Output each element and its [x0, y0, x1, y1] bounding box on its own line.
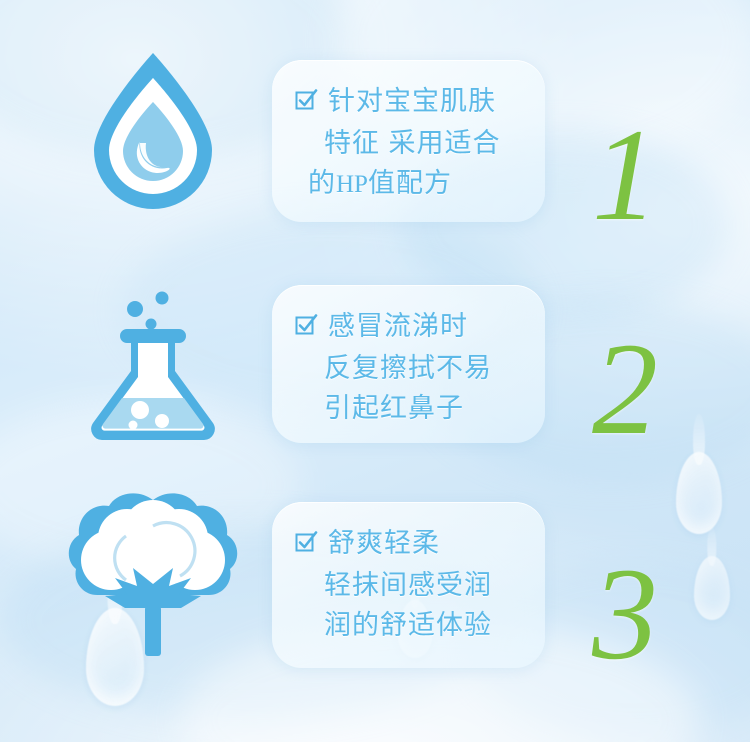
feature-text-line: 感冒流涕时	[288, 307, 527, 349]
feature-1-line-1: 针对宝宝肌肤	[328, 86, 496, 116]
feature-1-ph-value-label: HP	[336, 171, 368, 198]
feature-icon-slot-1	[48, 24, 258, 234]
flask-icon	[78, 276, 228, 441]
feature-1-line-3: 的HP值配方	[288, 164, 527, 204]
step-number-1: 1	[560, 109, 690, 241]
feature-row-3: 舒爽轻柔 轻抹间感受润 润的舒适体验 3	[0, 470, 750, 700]
infographic-poster: 针对宝宝肌肤 特征 采用适合 的HP值配方 1	[0, 0, 750, 742]
feature-row-2: 感冒流涕时 反复擦拭不易 引起红鼻子 2	[0, 253, 750, 483]
feature-text-line: 舒爽轻柔	[288, 524, 527, 566]
feature-3-line-3: 润的舒适体验	[288, 606, 527, 646]
step-number-2: 2	[560, 323, 690, 455]
feature-2-line-1: 感冒流涕时	[328, 311, 468, 341]
feature-1-line-3-suffix: 值配方	[368, 168, 452, 198]
water-drop-icon	[78, 45, 228, 213]
feature-card-1: 针对宝宝肌肤 特征 采用适合 的HP值配方	[272, 60, 545, 222]
feature-text-line: 针对宝宝肌肤	[288, 82, 527, 124]
feature-card-3: 舒爽轻柔 轻抹间感受润 润的舒适体验	[272, 502, 545, 668]
feature-1-line-2: 特征 采用适合	[288, 124, 527, 164]
feature-2-line-3: 引起红鼻子	[288, 389, 527, 429]
feature-icon-slot-2	[48, 253, 258, 463]
checkbox-icon	[294, 84, 318, 124]
feature-card-2: 感冒流涕时 反复擦拭不易 引起红鼻子	[272, 285, 545, 443]
feature-row-1: 针对宝宝肌肤 特征 采用适合 的HP值配方 1	[0, 24, 750, 254]
checkbox-icon	[294, 309, 318, 349]
checkbox-icon	[294, 526, 318, 566]
feature-1-line-3-prefix: 的	[308, 168, 336, 198]
feature-3-line-1: 舒爽轻柔	[328, 528, 440, 558]
feature-3-line-2: 轻抹间感受润	[288, 566, 527, 606]
feature-icon-slot-3	[48, 470, 258, 680]
feature-2-line-2: 反复擦拭不易	[288, 349, 527, 389]
cotton-boll-icon	[67, 488, 239, 663]
step-number-3: 3	[560, 548, 690, 680]
